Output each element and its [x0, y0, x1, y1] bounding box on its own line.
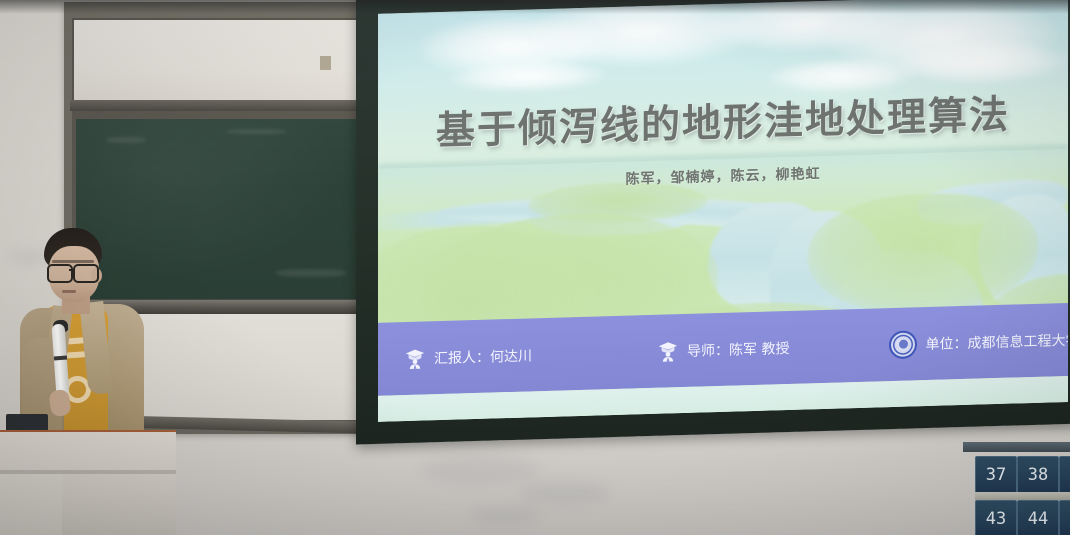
seat-number: 43 [975, 500, 1017, 535]
graduation-cap-person-icon [404, 347, 426, 370]
presenter-mouth [62, 290, 76, 293]
seat-number: 38 [1017, 456, 1059, 494]
info-item-affiliation: 单位：成都信息工程大学 [889, 325, 1068, 358]
chalk-residue [226, 129, 286, 134]
graduation-cap-person-icon [657, 340, 679, 363]
whiteboard-tape-mark [320, 56, 331, 70]
info-item-presenter-text: 汇报人：何达川 [434, 345, 532, 368]
seat-number: 37 [975, 456, 1017, 494]
wall-smudge [520, 480, 610, 506]
chalk-residue [106, 137, 146, 143]
seat-panel-rail [963, 442, 1070, 452]
presentation-slide: 基于倾泻线的地形洼地处理算法 陈军，邹楠婷，陈云，柳艳虹 汇报人：何达川 [378, 0, 1068, 422]
info-item-affiliation-text: 单位：成都信息工程大学 [925, 329, 1068, 353]
seat-panel-gap [975, 492, 1070, 500]
info-item-presenter: 汇报人：何达川 [404, 344, 532, 370]
seat-number: 39 [1059, 456, 1070, 494]
wall-smudge [420, 455, 540, 485]
projection-screen: 基于倾泻线的地形洼地处理算法 陈军，邹楠婷，陈云，柳艳虹 汇报人：何达川 [356, 0, 1070, 444]
info-item-advisor-text: 导师：陈军 教授 [687, 337, 789, 360]
seat-number: 45 [1059, 500, 1070, 535]
blackboard-middle-rail [70, 100, 374, 111]
chalk-residue [276, 269, 346, 277]
lecture-hall-scene: 基于倾泻线的地形洼地处理算法 陈军，邹楠婷，陈云，柳艳虹 汇报人：何达川 [0, 0, 1070, 535]
seat-number-panels: 37 38 39 43 44 45 [975, 452, 1070, 535]
presenter-brow [52, 260, 94, 263]
info-item-advisor: 导师：陈军 教授 [657, 336, 789, 362]
podium-side-panel [0, 474, 62, 535]
university-seal-icon [889, 330, 917, 359]
wall-smudge [470, 505, 540, 525]
glasses-icon [45, 264, 101, 279]
seat-number: 44 [1017, 500, 1059, 535]
